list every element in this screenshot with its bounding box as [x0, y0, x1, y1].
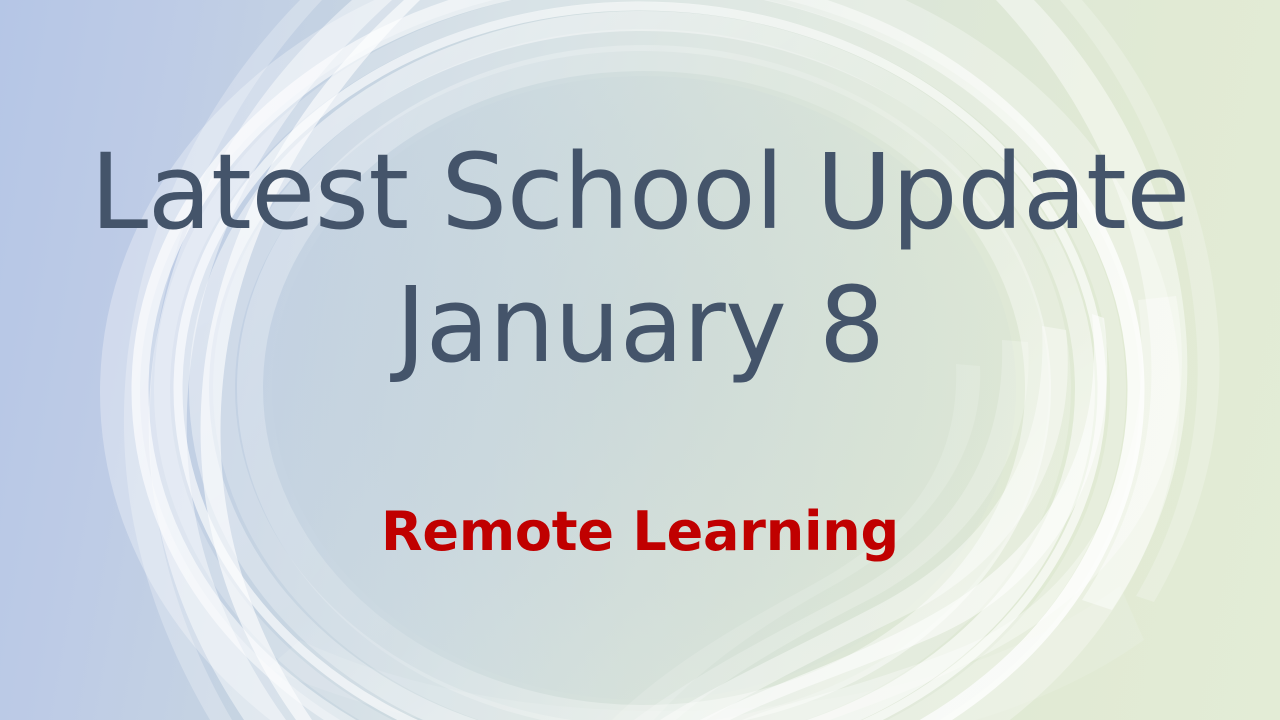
swirl-band-2	[700, 314, 1107, 720]
right-arc-1	[996, 0, 1187, 610]
inner-disc	[272, 76, 1016, 700]
left-streak-group	[124, 0, 420, 720]
ring-outer-halo	[120, 0, 1160, 720]
slide-content: Latest School Update January 8 Remote Le…	[0, 0, 1280, 720]
ring-group	[120, 0, 1220, 720]
swirl-inner-wisp	[612, 364, 980, 720]
ring-band-3	[199, 21, 1085, 720]
right-arc-group	[996, 0, 1220, 610]
right-arc-2	[1060, 0, 1220, 602]
ring-highlight-line	[178, 6, 1102, 720]
ring-band-2	[162, 0, 1118, 720]
ring-band-4	[224, 40, 1060, 720]
ring-band-1	[140, 0, 1136, 720]
slide-title: Latest School Update January 8	[0, 126, 1280, 392]
bottom-wash	[268, 586, 1144, 720]
left-streak-highlight	[201, 0, 420, 720]
background-decoration	[0, 0, 1280, 720]
ring-band-5	[250, 58, 1038, 718]
swirl-band-1	[742, 296, 1182, 720]
left-streak-1	[149, 0, 392, 720]
slide-subtitle: Remote Learning	[0, 500, 1280, 565]
swirl-group	[612, 296, 1182, 720]
left-streak-2	[124, 0, 322, 720]
swirl-band-4	[634, 340, 1029, 720]
swirl-band-3	[660, 326, 1068, 720]
presentation-slide: Latest School Update January 8 Remote Le…	[0, 0, 1280, 720]
